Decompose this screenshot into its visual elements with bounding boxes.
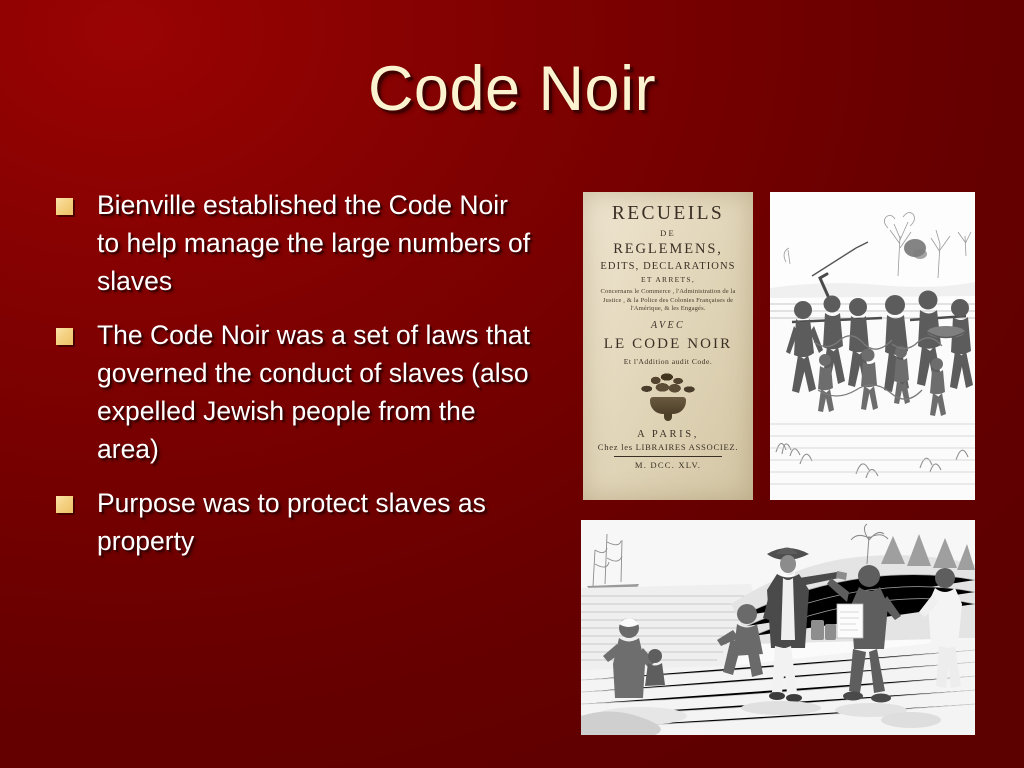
slave-coffle-engraving-graphic	[770, 192, 975, 500]
list-item[interactable]: Bienville established the Code Noir to h…	[56, 186, 536, 300]
book-line-paris: A PARIS,	[591, 428, 745, 441]
book-line-avec: AVEC	[591, 318, 745, 333]
shore-trading-engraving-image[interactable]	[581, 520, 975, 735]
shore-trading-engraving-graphic	[581, 520, 975, 735]
bullet-text: Bienville established the Code Noir to h…	[97, 186, 536, 300]
flower-basket-ornament-icon	[636, 372, 700, 424]
book-line-de: DE	[591, 226, 745, 240]
bullet-text: Purpose was to protect slaves as propert…	[97, 484, 536, 560]
book-line-year: M. DCC. XLV.	[591, 459, 745, 471]
book-line-edits: EDITS, DECLARATIONS	[591, 260, 745, 274]
book-line-addition: Et l'Addition audit Code.	[591, 356, 745, 367]
book-description: Concernans le Commerce , l'Administratio…	[591, 288, 745, 314]
slave-coffle-engraving-image[interactable]	[770, 192, 975, 500]
slide-title: Code Noir	[0, 52, 1024, 126]
square-bullet-icon	[56, 328, 73, 345]
bullet-list: Bienville established the Code Noir to h…	[56, 186, 536, 576]
book-divider	[614, 456, 722, 458]
square-bullet-icon	[56, 496, 73, 513]
list-item[interactable]: The Code Noir was a set of laws that gov…	[56, 316, 536, 468]
book-page-content: RECUEILS DE REGLEMENS, EDITS, DECLARATIO…	[583, 192, 753, 500]
slide-canvas: Code Noir Bienville established the Code…	[0, 0, 1024, 768]
book-line-code-noir: LE CODE NOIR	[591, 335, 745, 354]
code-noir-title-page-image[interactable]: RECUEILS DE REGLEMENS, EDITS, DECLARATIO…	[583, 192, 753, 500]
list-item[interactable]: Purpose was to protect slaves as propert…	[56, 484, 536, 560]
book-line-arrets: ET ARRETS,	[591, 274, 745, 285]
book-line-reglemens: REGLEMENS,	[591, 240, 745, 258]
square-bullet-icon	[56, 198, 73, 215]
book-line-publisher: Chez les LIBRAIRES ASSOCIEZ.	[591, 441, 745, 453]
bullet-text: The Code Noir was a set of laws that gov…	[97, 316, 536, 468]
book-line-recueils: RECUEILS	[591, 203, 745, 225]
